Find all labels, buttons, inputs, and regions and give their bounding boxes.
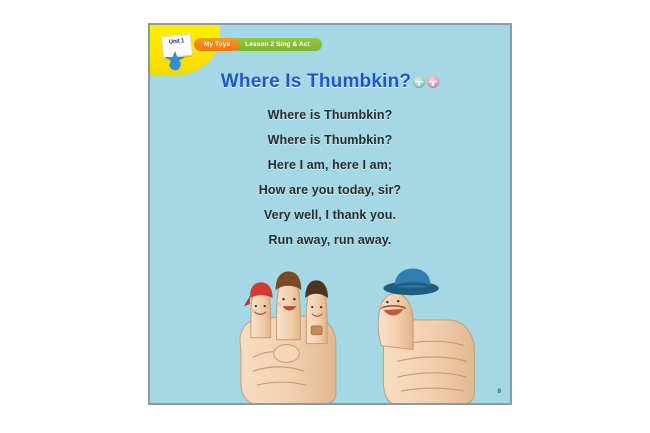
lyric-line: Here I am, here I am;: [150, 153, 510, 178]
unit-tab-label: Unit 1: [163, 37, 190, 46]
screenshot-root: Unit 1 My Toys Lesson 2 Sing & Act Where…: [0, 0, 650, 433]
page-number: 8: [498, 389, 501, 395]
page-title-row: Where Is Thumbkin?: [150, 71, 510, 93]
paper-card-icon: Unit 1: [161, 33, 193, 58]
left-hand-three-fingers: [240, 271, 336, 403]
right-hand-thumbs-up: [378, 268, 474, 403]
lyric-line: Run away, run away.: [150, 228, 510, 253]
blue-star-character-leg-icon: [169, 60, 181, 71]
lesson-badge[interactable]: Lesson 2 Sing & Act: [231, 38, 322, 51]
lyric-line: Where is Thumbkin?: [150, 128, 510, 153]
page-title: Where Is Thumbkin?: [221, 71, 411, 93]
audio-play-icon[interactable]: [413, 76, 425, 88]
topic-badge[interactable]: My Toys: [194, 38, 239, 51]
audio-karaoke-icon[interactable]: [427, 76, 439, 88]
lyric-line: Where is Thumbkin?: [150, 103, 510, 128]
textbook-page: Unit 1 My Toys Lesson 2 Sing & Act Where…: [148, 23, 512, 405]
finger-character-dark-hair: [305, 280, 328, 343]
lyric-line: Very well, I thank you.: [150, 203, 510, 228]
lyric-line: How are you today, sir?: [150, 178, 510, 203]
two-hands-finger-puppets-illustration: [150, 253, 510, 403]
breadcrumb: My Toys Lesson 2 Sing & Act: [194, 38, 322, 51]
lyrics-block: Where is Thumbkin? Where is Thumbkin? He…: [150, 103, 510, 253]
finger-character-brown-hair: [276, 271, 302, 339]
